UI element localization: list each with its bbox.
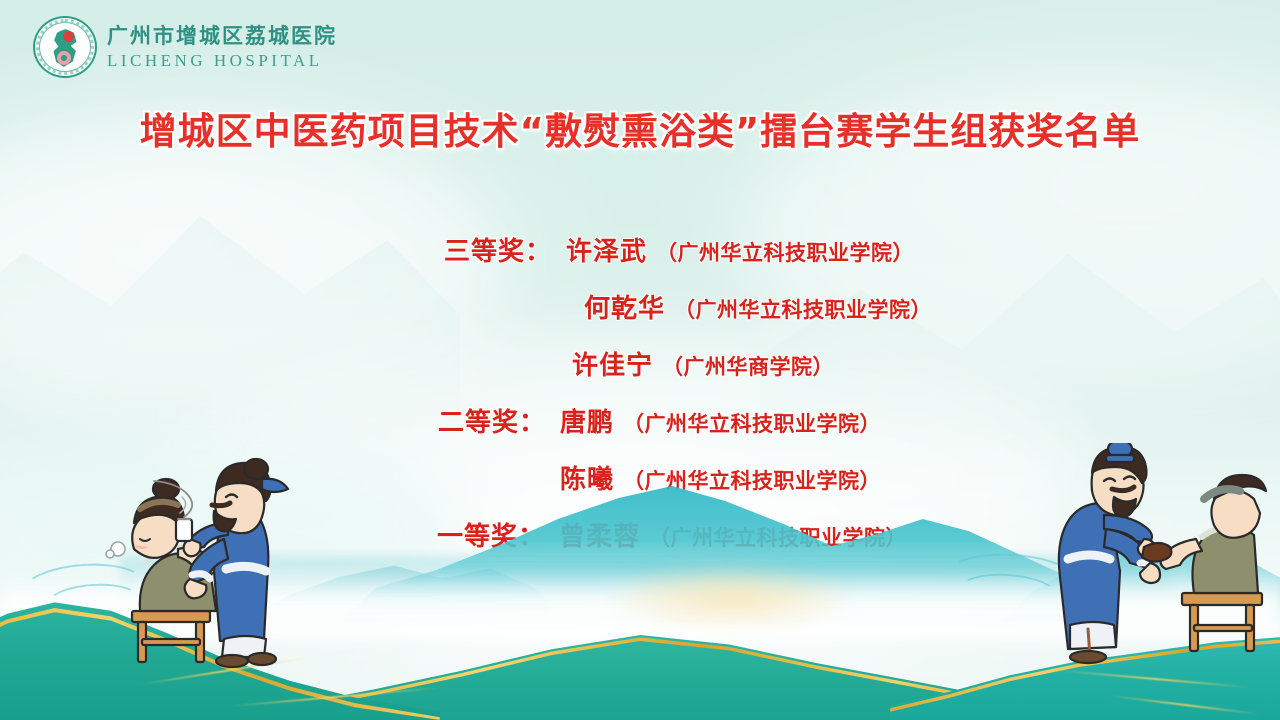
hospital-logo-block: 广州市增城区荔城医院 LICHENG HOSPITAL <box>33 16 337 78</box>
warm-glow <box>600 562 860 632</box>
green-hill-center <box>300 602 1040 720</box>
prize-label: 三等奖： <box>444 231 552 268</box>
winner-name: 许泽武 <box>566 231 647 268</box>
winner-row: 何乾华 （广州华立科技职业学院） <box>0 278 1280 335</box>
winner-school: （广州华立科技职业学院） <box>649 522 907 552</box>
page-title: 增城区中医药项目技术“敷熨熏浴类”擂台赛学生组获奖名单 <box>0 101 1280 155</box>
winner-name: 陈曦 <box>560 459 614 496</box>
winner-school: （广州华商学院） <box>662 351 834 381</box>
winner-school: （广州华立科技职业学院） <box>674 294 932 324</box>
hospital-name-cn: 广州市增城区荔城医院 <box>107 26 337 47</box>
winner-row: 二等奖： 唐鹏 （广州华立科技职业学院） <box>0 392 1280 449</box>
prize-label: 一等奖： <box>437 516 545 553</box>
gold-brush-stroke <box>230 687 439 707</box>
winner-name: 唐鹏 <box>560 402 614 439</box>
winner-school: （广州华立科技职业学院） <box>623 465 881 495</box>
winner-name: 何乾华 <box>584 288 665 325</box>
slide-canvas: 广州市增城区荔城医院 LICHENG HOSPITAL 增城区中医药项目技术“敷… <box>0 0 1280 720</box>
gold-ridge-center <box>300 602 1040 720</box>
gold-brush-stroke <box>1110 695 1259 715</box>
tcm-scraping-treatment-illustration <box>1044 443 1274 668</box>
prize-label: 二等奖： <box>438 402 546 439</box>
hospital-name-en: LICHENG HOSPITAL <box>107 52 337 69</box>
gold-brush-stroke <box>1060 670 1249 689</box>
winner-name: 许佳宁 <box>572 345 653 382</box>
winner-name: 曾柔蓉 <box>559 516 640 553</box>
winner-school: （广州华立科技职业学院） <box>656 237 914 267</box>
licheng-hospital-emblem-icon <box>33 16 97 78</box>
winner-row: 三等奖： 许泽武 （广州华立科技职业学院） <box>0 221 1280 278</box>
tcm-moxibustion-treatment-illustration <box>104 453 314 668</box>
winner-school: （广州华立科技职业学院） <box>623 408 881 438</box>
winner-row: 许佳宁 （广州华商学院） <box>0 335 1280 392</box>
